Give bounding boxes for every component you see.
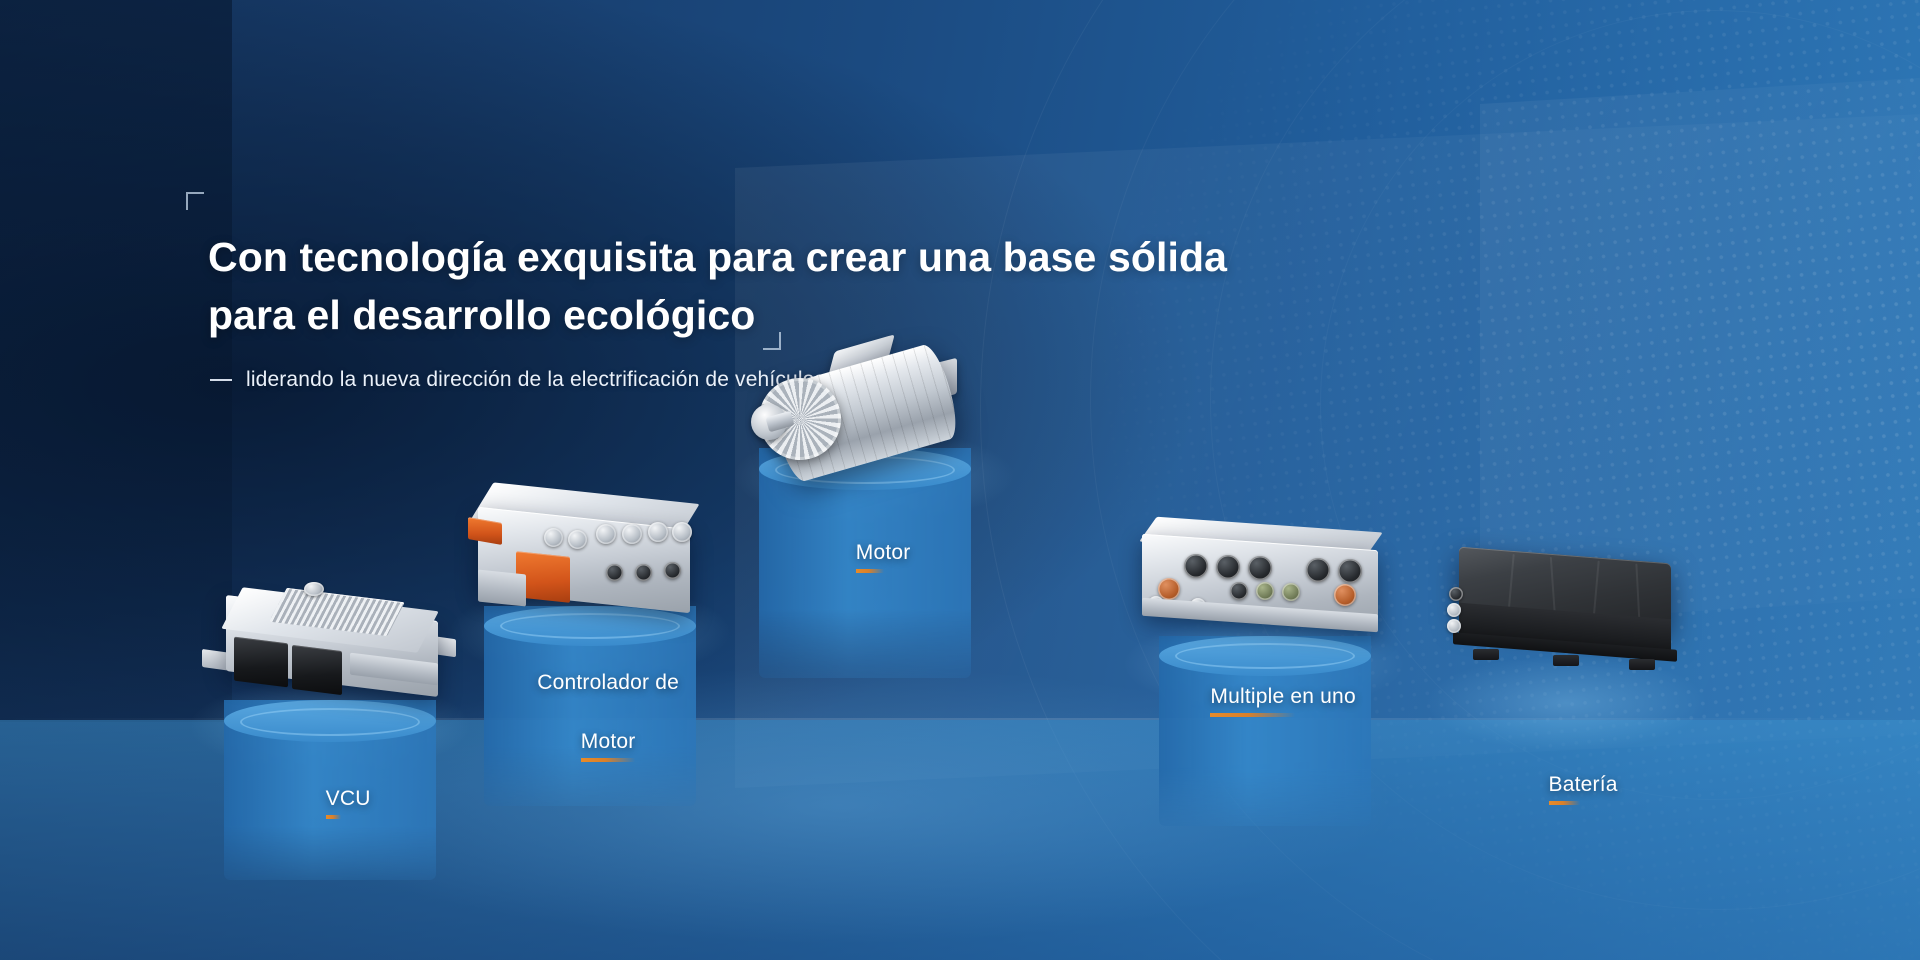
headline-line-1: Con tecnología exquisita para crear una … [208, 228, 1268, 286]
hero-banner: Con tecnología exquisita para crear una … [0, 0, 1920, 960]
product-label-text-line2: Motor [581, 727, 636, 757]
product-label-text-line1: Controlador de [537, 671, 679, 694]
product-label-battery: Batería [1400, 740, 1730, 829]
corner-bracket-top-left-icon [186, 192, 204, 210]
headline-line-2: para el desarrollo ecológico [208, 286, 755, 344]
product-item-motor[interactable]: Motor [700, 400, 1030, 700]
product-label-text: Motor [856, 538, 911, 568]
product-image-motor-controller [460, 480, 720, 630]
product-label-text: VCU [326, 784, 371, 814]
product-image-motor [735, 342, 995, 512]
product-label-text: Batería [1549, 770, 1618, 800]
product-label-all-in-one: Multiple en uno [1100, 652, 1430, 741]
product-label-motor: Motor [700, 508, 1030, 597]
product-item-battery[interactable]: Batería [1400, 545, 1730, 795]
product-image-vcu [200, 574, 460, 714]
subtitle-dash-icon [210, 379, 232, 381]
product-image-battery [1445, 545, 1685, 675]
product-item-all-in-one[interactable]: Multiple en uno [1100, 500, 1430, 760]
headline-block: Con tecnología exquisita para crear una … [208, 228, 1268, 344]
background-panel-secondary [1480, 67, 1920, 624]
product-image-all-in-one [1130, 522, 1400, 652]
product-label-text: Multiple en uno [1210, 682, 1355, 712]
